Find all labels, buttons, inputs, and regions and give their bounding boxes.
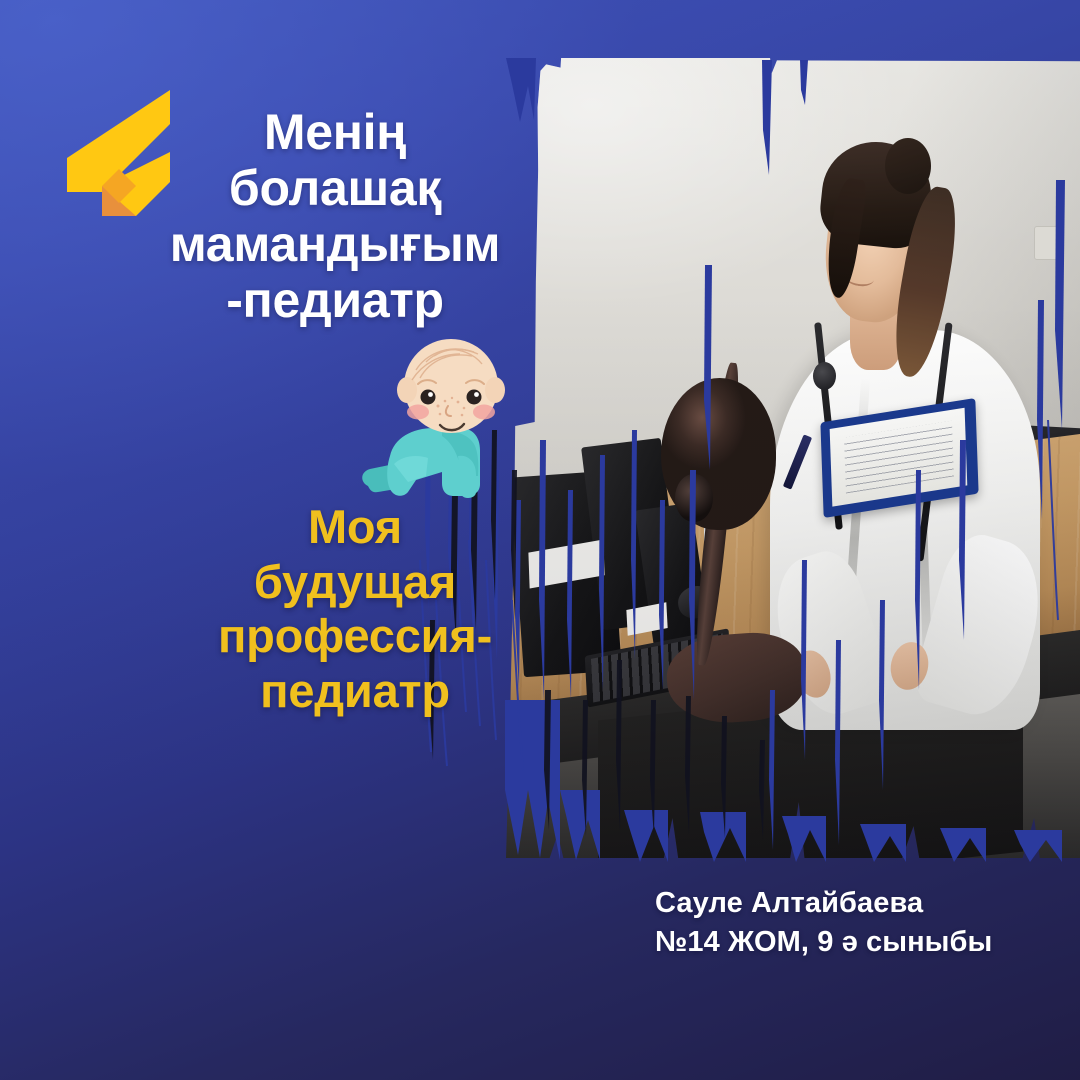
headline-ru-line-4: педиатр: [190, 664, 520, 719]
baby-left-eye-glint: [428, 392, 433, 397]
photo-color-grade: [506, 58, 1080, 858]
doctor-photo: [506, 58, 1080, 858]
headline-kz-line-4: -педиатр: [140, 272, 530, 328]
headline-ru-line-2: будущая: [190, 555, 520, 610]
headline-russian: Моя будущая профессия- педиатр: [190, 500, 520, 718]
headline-kz-line-2: болашақ: [140, 160, 530, 216]
baby-right-eye: [467, 390, 482, 405]
poster-canvas: Менің болашақ мамандығым -педиатр Моя бу…: [0, 0, 1080, 1080]
headline-kz-line-1: Менің: [140, 104, 530, 160]
baby-left-cheek: [407, 405, 429, 420]
credit-school-class: №14 ЖОМ, 9 ә сыныбы: [655, 923, 992, 962]
credit-author: Сауле Алтайбаева: [655, 884, 992, 923]
credit-block: Сауле Алтайбаева №14 ЖОМ, 9 ә сыныбы: [655, 884, 992, 963]
baby-svg: [350, 336, 540, 516]
baby-right-cheek: [473, 405, 495, 420]
headline-ru-line-3: профессия-: [190, 609, 520, 664]
photo-scene: [506, 58, 1080, 858]
headline-ru-line-1: Моя: [190, 500, 520, 555]
baby-right-eye-glint: [474, 392, 479, 397]
crawling-baby-illustration: [350, 336, 540, 516]
headline-kazakh: Менің болашақ мамандығым -педиатр: [140, 104, 530, 328]
baby-right-ear: [485, 377, 505, 403]
baby-left-ear: [397, 377, 417, 403]
baby-left-eye: [421, 390, 436, 405]
headline-kz-line-3: мамандығым: [140, 216, 530, 272]
